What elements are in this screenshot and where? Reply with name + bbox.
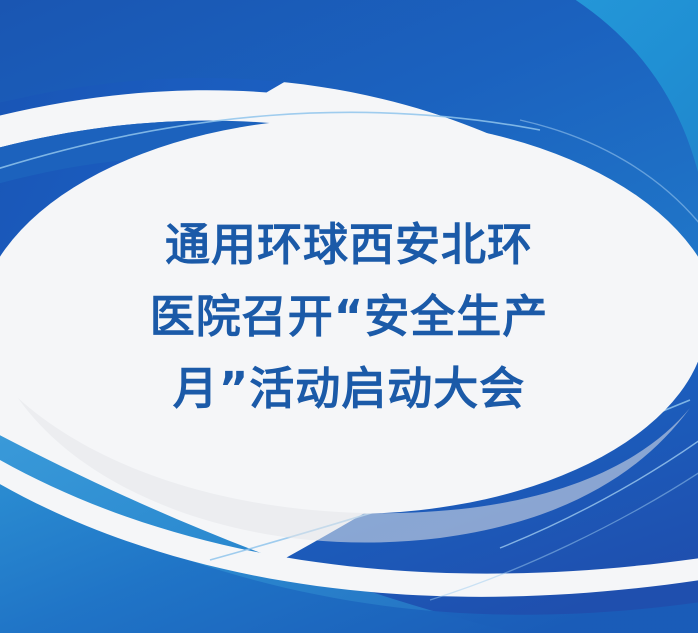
background-graphic: [0, 0, 698, 633]
poster-banner: 通用环球西安北环 医院召开“安全生产 月”活动启动大会: [0, 0, 698, 633]
center-white-oval-top: [0, 122, 698, 514]
